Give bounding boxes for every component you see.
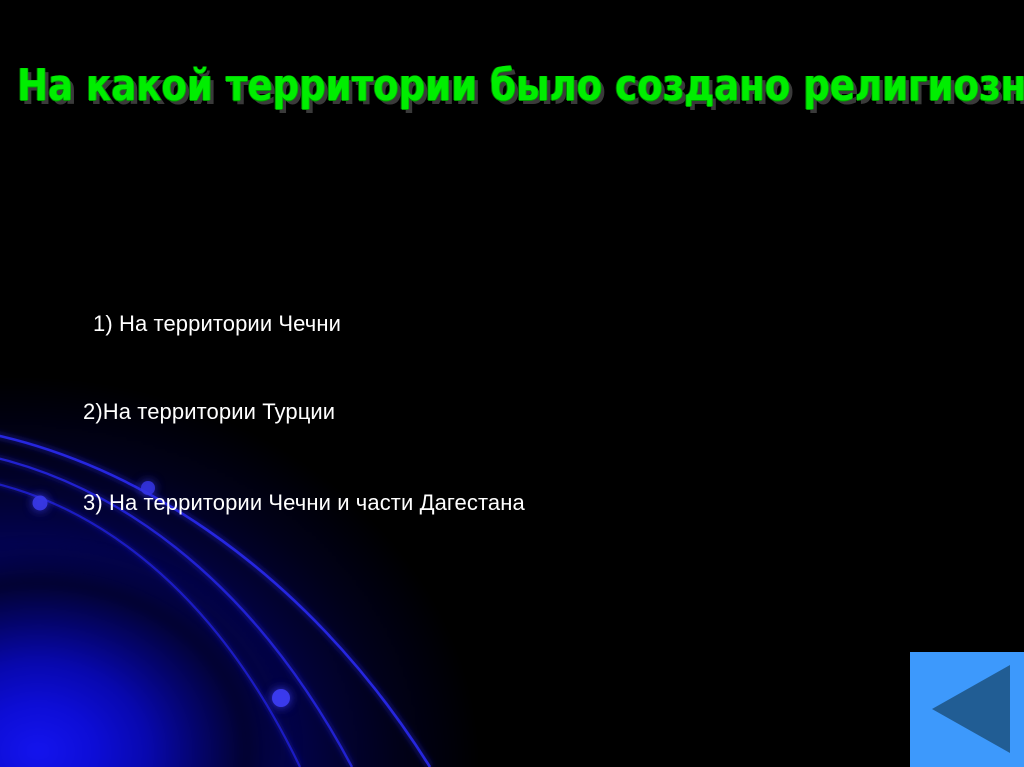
slide-title: На какой территории было создано религио… bbox=[0, 58, 1024, 122]
node-left bbox=[33, 496, 48, 511]
answer-option-2[interactable]: 2)На территории Турции bbox=[83, 398, 335, 426]
presentation-slide: На какой территории было создано религио… bbox=[0, 0, 1024, 767]
answer-option-3[interactable]: 3) На территории Чечни и части Дагестана bbox=[83, 489, 525, 517]
triangle-left-icon bbox=[932, 665, 1010, 753]
slide-title-text: На какой территории было создано религио… bbox=[17, 58, 938, 114]
back-button[interactable] bbox=[910, 652, 1024, 767]
blue-glow-corner bbox=[0, 520, 350, 767]
arc-outer bbox=[0, 430, 430, 767]
arc-inner bbox=[0, 478, 300, 767]
blue-glow-main bbox=[0, 300, 570, 767]
node-lower bbox=[272, 689, 290, 707]
answer-option-1[interactable]: 1) На территории Чечни bbox=[93, 310, 341, 338]
